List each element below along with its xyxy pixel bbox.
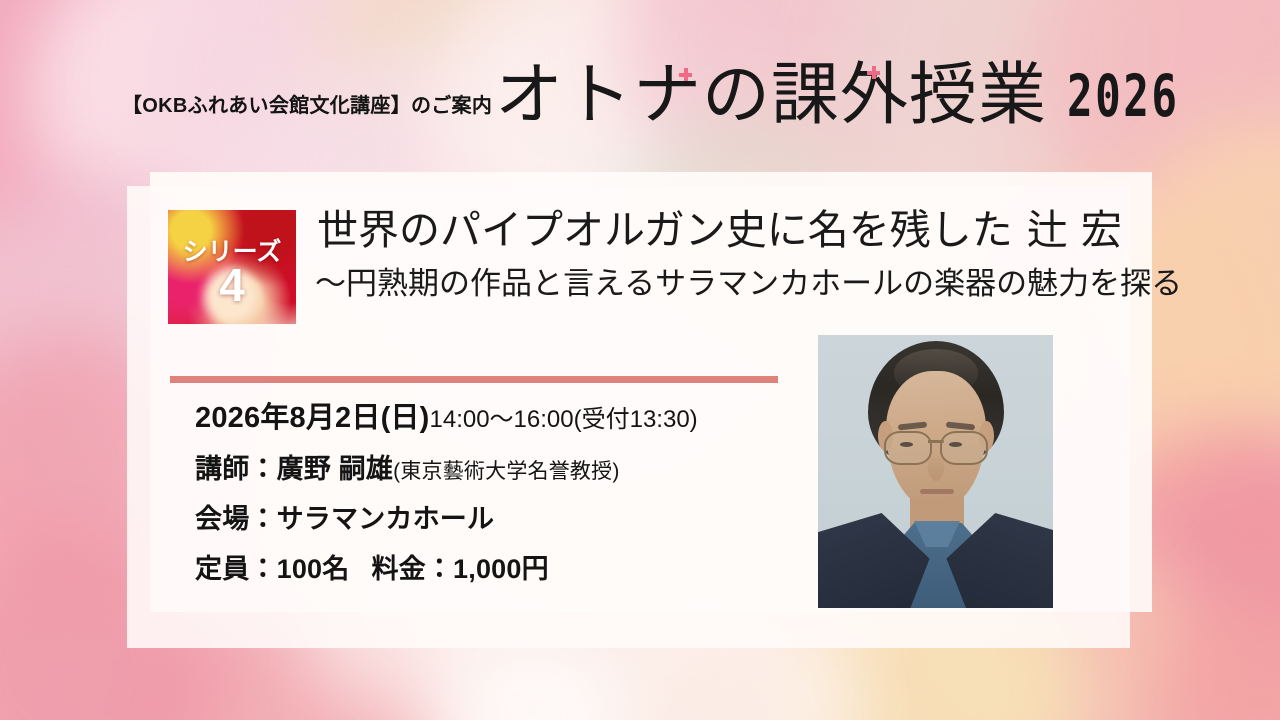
content-card: シリーズ 4 世界のパイプオルガン史に名を残した辻 宏 〜円熟期の作品と言えるサ… [127, 186, 1130, 648]
detail-capacity-row: 定員：100名料金：1,000円 [195, 556, 698, 583]
series-badge: シリーズ 4 [168, 210, 296, 324]
detail-lecturer-label: 講師： [195, 454, 277, 484]
poster-title: オトナの課外授業 2026 [495, 62, 1204, 130]
detail-venue: 会場：サラマンカホール [195, 506, 698, 533]
portrait-nose [928, 453, 944, 481]
detail-lecturer-name: 廣野 嗣雄 [277, 454, 394, 484]
lecture-title: 世界のパイプオルガン史に名を残した辻 宏 [317, 208, 1122, 252]
lecture-title-text: 世界のパイプオルガン史に名を残した [317, 206, 1013, 254]
header-eyebrow-text: 【OKBふれあい会館文化講座】のご案内 [122, 89, 492, 118]
lecture-title-person: 辻 宏 [1027, 206, 1122, 254]
detail-lecturer-row: 講師：廣野 嗣雄(東京藝術大学名誉教授) [195, 456, 698, 483]
section-divider [170, 376, 778, 383]
poster-title-main-text: オトナの課外授業 [495, 56, 1047, 135]
detail-lecturer-affiliation: (東京藝術大学名誉教授) [393, 460, 619, 483]
event-details: 2026年8月2日(日)14:00〜16:00(受付13:30) 講師：廣野 嗣… [195, 404, 698, 583]
portrait-mouth [920, 489, 954, 494]
series-badge-number: 4 [168, 262, 296, 308]
detail-time: 14:00〜16:00(受付13:30) [430, 406, 698, 433]
portrait-lens-right [940, 431, 988, 465]
detail-date: 2026年8月2日(日) [195, 402, 430, 434]
content-card-inner: シリーズ 4 世界のパイプオルガン史に名を残した辻 宏 〜円熟期の作品と言えるサ… [127, 186, 1130, 648]
detail-capacity: 定員：100名 [195, 554, 349, 584]
lecturer-portrait-photo [818, 335, 1053, 608]
portrait-lens-left [884, 431, 932, 465]
poster-root: 【OKBふれあい会館文化講座】のご案内 オトナの課外授業 2026 シリーズ 4… [0, 0, 1280, 720]
detail-date-row: 2026年8月2日(日)14:00〜16:00(受付13:30) [195, 404, 698, 433]
poster-title-main: オトナの課外授業 [495, 62, 1047, 130]
detail-fee: 料金：1,000円 [371, 554, 548, 584]
lecture-subtitle: 〜円熟期の作品と言えるサラマンカホールの楽器の魅力を探る [315, 267, 1182, 301]
poster-title-year: 2026 [1067, 68, 1180, 126]
